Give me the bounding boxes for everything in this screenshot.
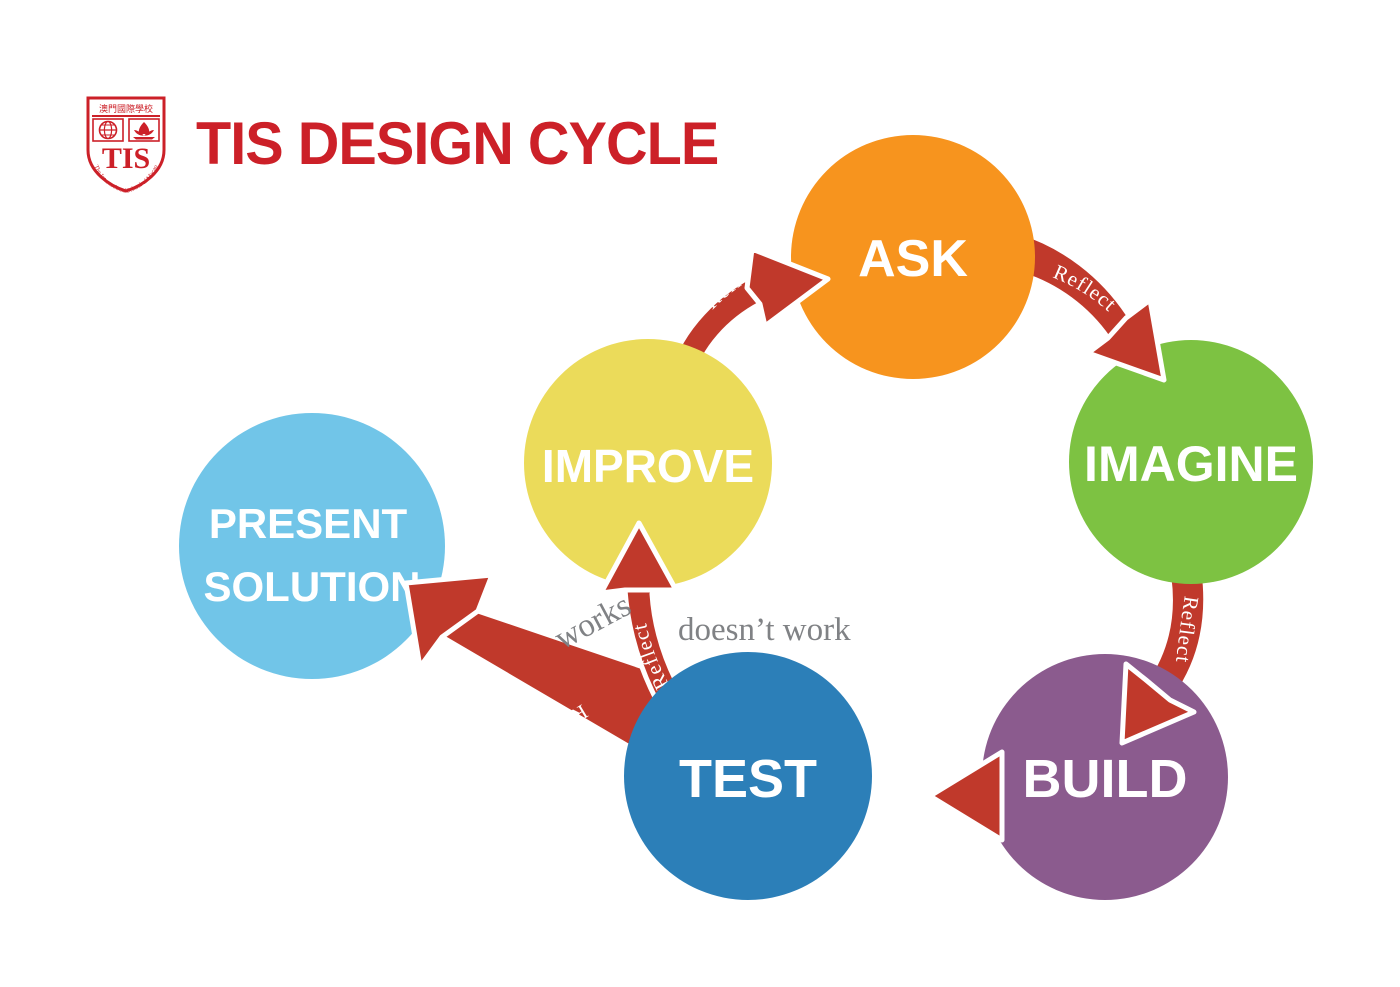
present-solution-label-line2: SOLUTION [204,563,421,610]
node-ask[interactable]: ASK [791,135,1035,379]
design-cycle-poster: 澳門國際學校 TIS [0,0,1400,987]
present-solution-label-line1: PRESENT [209,500,408,547]
node-present-solution[interactable]: PRESENT SOLUTION [179,413,445,679]
ask-label: ASK [858,230,968,288]
test-label: TEST [679,749,817,809]
node-test[interactable]: TEST [624,652,872,900]
condition-labels: works doesn’t work [549,587,851,657]
imagine-label: IMAGINE [1084,436,1298,492]
design-cycle-diagram: Reflect Reflect Reflect [0,0,1400,987]
reflect-text: Reflect [522,700,592,756]
condition-label-works: works [549,587,637,657]
arrowhead-into-test [930,752,1002,840]
reflect-label-test-present: Reflect [522,700,592,756]
node-build[interactable]: BUILD [982,654,1228,900]
build-label: BUILD [1023,749,1188,809]
cycle-nodes: ASK IMAGINE BUILD TEST PRESENT SOLUTION [179,135,1313,900]
node-imagine[interactable]: IMAGINE [1069,340,1313,584]
improve-label: IMPROVE [542,440,754,492]
condition-label-doesnt-work: doesn’t work [678,612,851,648]
